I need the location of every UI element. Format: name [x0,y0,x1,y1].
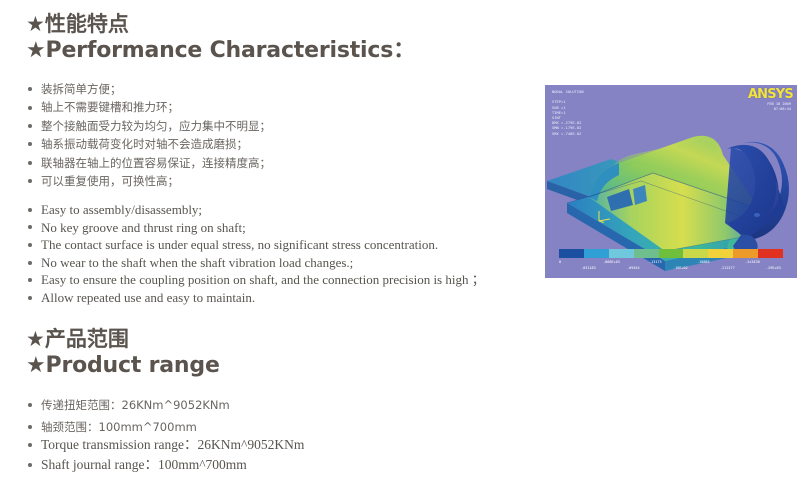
legend-label: .866E+03 [603,260,620,264]
legend-swatch [758,249,783,258]
list-item: Easy to ensure the coupling position on … [28,271,485,289]
contour-legend [559,249,783,258]
list-item: No wear to the shaft when the shaft vibr… [28,254,485,272]
legend-swatch [683,249,708,258]
legend-swatch [708,249,733,258]
fea-header-right: FEB 18 2009 07:08:44 [767,102,791,112]
legend-swatch [659,249,684,258]
list-item: 联轴器在轴上的位置容易保证，连接精度高； [28,154,271,172]
list-item: The contact surface is under equal stres… [28,236,485,254]
axis-triad-icon [597,209,613,223]
slide-page: ★性能特点 ★Performance Characteristics： 装拆简单… [0,0,811,477]
product-range-bullets-cn: 传递扭矩范围：26KNm^9052KNm 轴颈范围：100mm^700mm [28,394,230,438]
ansys-logo: ANSYS [748,87,793,102]
legend-label: .2x3438 [745,260,760,264]
legend-swatch [559,249,584,258]
product-range-heading-group: ★产品范围 ★Product range [26,327,220,380]
list-item: Allow repeated use and easy to maintain. [28,289,485,307]
legend-label: .212277 [720,266,735,270]
list-item: 装拆简单方便； [28,80,271,98]
legend-label: .16E+02 [673,266,688,270]
legend-label: 0 [559,260,561,264]
legend-label: .18885 [697,260,710,264]
list-item: 整个接触面受力较为均匀，应力集中不明显； [28,117,271,135]
list-item: 轴系振动载荷变化时对轴不会造成磨损； [28,135,271,153]
legend-label: .031183 [581,266,596,270]
list-item: 轴上不需要键槽和推力环； [28,98,271,116]
legend-swatch [733,249,758,258]
legend-label: .29E+03 [766,266,781,270]
performance-heading-cn: ★性能特点 [26,12,415,37]
contour-legend-labels: 0 .866E+03 .13173 .18885 .2x3438 .031183… [557,260,789,267]
product-range-bullets-en: Torque transmission range：26KNm^9052KNm … [28,435,304,475]
ansys-fea-figure: NODAL SOLUTION STEP=1 SUB =1 TIME=1 SINT… [545,85,797,278]
product-range-heading-en: ★Product range [26,352,220,380]
product-range-heading-cn: ★产品范围 [26,327,220,352]
legend-swatch [584,249,609,258]
legend-swatch [634,249,659,258]
performance-bullets-en: Easy to assembly/disassembly; No key gro… [28,201,485,307]
list-item: 可以重复使用，可换性高； [28,172,271,190]
list-item: No key groove and thrust ring on shaft; [28,219,485,237]
performance-bullets-cn: 装拆简单方便； 轴上不需要键槽和推力环； 整个接触面受力较为均匀，应力集中不明显… [28,80,271,190]
list-item: 传递扭矩范围：26KNm^9052KNm [28,394,230,416]
legend-label: .13173 [649,260,662,264]
legend-label: .09454 [627,266,640,270]
fea-header-left: NODAL SOLUTION STEP=1 SUB =1 TIME=1 SINT… [552,90,584,137]
performance-heading-group: ★性能特点 ★Performance Characteristics： [26,12,415,65]
legend-swatch [609,249,634,258]
list-item: Shaft journal range：100mm^700mm [28,455,304,475]
list-item: Easy to assembly/disassembly; [28,201,485,219]
performance-heading-en: ★Performance Characteristics： [26,37,415,65]
list-item: Torque transmission range：26KNm^9052KNm [28,435,304,455]
